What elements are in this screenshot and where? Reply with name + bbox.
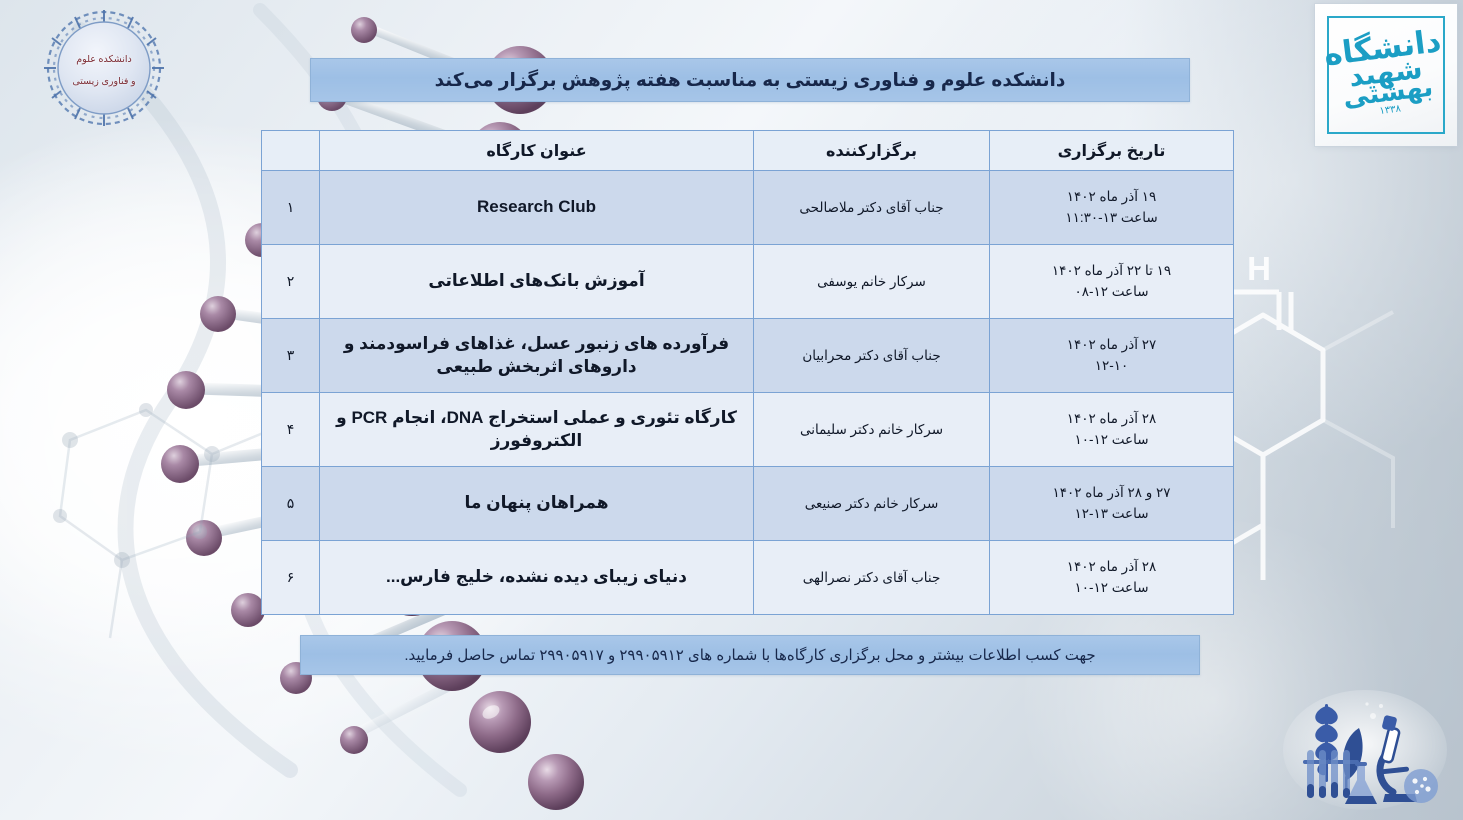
schedule-table-container: تاریخ برگزاری برگزارکننده عنوان کارگاه ۱…	[262, 130, 1234, 615]
column-header-host: برگزارکننده	[754, 131, 990, 171]
cell-host: جناب آقای دکتر محرابیان	[754, 319, 990, 393]
cell-row-number: ۱	[262, 171, 320, 245]
cell-host: سرکار خانم دکتر صنیعی	[754, 467, 990, 541]
table-body: ۱۹ آذر ماه ۱۴۰۲ساعت ۱۳-۱۱:۳۰جناب آقای دک…	[262, 171, 1234, 615]
poster-canvas: CH 3 H NH	[0, 0, 1463, 820]
contact-footer-banner: جهت کسب اطلاعات بیشتر و محل برگزاری کارگ…	[300, 635, 1200, 675]
date-line-2: ۱۲-۱۰	[998, 356, 1225, 376]
chem-label-h: H	[1247, 250, 1271, 287]
table-header-row: تاریخ برگزاری برگزارکننده عنوان کارگاه	[262, 131, 1234, 171]
table-row: ۱۹ آذر ماه ۱۴۰۲ساعت ۱۳-۱۱:۳۰جناب آقای دک…	[262, 171, 1234, 245]
cell-date: ۱۹ آذر ماه ۱۴۰۲ساعت ۱۳-۱۱:۳۰	[990, 171, 1234, 245]
cell-workshop-title: آموزش بانک‌های اطلاعاتی	[320, 245, 754, 319]
university-logo-frame: دانشگاه شهید بهشتی ۱۳۳۸	[1327, 16, 1445, 134]
column-header-number	[262, 131, 320, 171]
date-line-1: ۲۷ آذر ماه ۱۴۰۲	[998, 335, 1225, 355]
science-emblem-logo	[1281, 688, 1449, 812]
table-header: تاریخ برگزاری برگزارکننده عنوان کارگاه	[262, 131, 1234, 171]
column-header-title: عنوان کارگاه	[320, 131, 754, 171]
date-line-1: ۲۷ و ۲۸ آذر ماه ۱۴۰۲	[998, 483, 1225, 503]
date-line-2: ساعت ۱۳-۱۱:۳۰	[998, 208, 1225, 228]
university-logo-calligraphy: دانشگاه شهید بهشتی ۱۳۳۸	[1323, 27, 1450, 122]
cell-date: ۲۸ آذر ماه ۱۴۰۲ساعت ۱۲-۱۰	[990, 541, 1234, 615]
banner-title: دانشکده علوم و فناوری زیستی به مناسبت هف…	[435, 69, 1066, 91]
table-row: ۲۷ آذر ماه ۱۴۰۲۱۲-۱۰جناب آقای دکتر محراب…	[262, 319, 1234, 393]
cell-row-number: ۴	[262, 393, 320, 467]
faculty-seal-line1: دانشکده علوم	[76, 54, 131, 65]
cell-host: جناب آقای دکتر نصرالهی	[754, 541, 990, 615]
date-line-1: ۲۸ آذر ماه ۱۴۰۲	[998, 409, 1225, 429]
workshop-schedule-table: تاریخ برگزاری برگزارکننده عنوان کارگاه ۱…	[261, 130, 1234, 615]
table-row: ۲۸ آذر ماه ۱۴۰۲ساعت ۱۲-۱۰جناب آقای دکتر …	[262, 541, 1234, 615]
faculty-seal-line2: و فناوری زیستی	[72, 76, 135, 87]
date-line-1: ۲۸ آذر ماه ۱۴۰۲	[998, 557, 1225, 577]
cell-row-number: ۲	[262, 245, 320, 319]
date-line-2: ساعت ۱۲-۰۸	[998, 282, 1225, 302]
date-line-2: ساعت ۱۲-۱۰	[998, 430, 1225, 450]
table-row: ۲۸ آذر ماه ۱۴۰۲ساعت ۱۲-۱۰سرکار خانم دکتر…	[262, 393, 1234, 467]
cell-row-number: ۳	[262, 319, 320, 393]
cell-date: ۲۷ آذر ماه ۱۴۰۲۱۲-۱۰	[990, 319, 1234, 393]
date-line-1: ۱۹ آذر ماه ۱۴۰۲	[998, 187, 1225, 207]
cell-icon	[1404, 769, 1438, 803]
faculty-seal-logo: دانشکده علوم و فناوری زیستی	[18, 6, 190, 134]
cell-workshop-title: همراهان پنهان ما	[320, 467, 754, 541]
cell-workshop-title: کارگاه تئوری و عملی استخراج DNA، انجام P…	[320, 393, 754, 467]
contact-footer-text: جهت کسب اطلاعات بیشتر و محل برگزاری کارگ…	[404, 646, 1095, 664]
faculty-seal-text: دانشکده علوم و فناوری زیستی	[18, 6, 190, 134]
date-line-2: ساعت ۱۲-۱۰	[998, 578, 1225, 598]
laboratory-plant-microscope-icon	[1281, 688, 1449, 812]
cell-workshop-title: Research Club	[320, 171, 754, 245]
cell-date: ۲۷ و ۲۸ آذر ماه ۱۴۰۲ساعت ۱۳-۱۲	[990, 467, 1234, 541]
date-line-2: ساعت ۱۳-۱۲	[998, 504, 1225, 524]
cell-host: سرکار خانم دکتر سلیمانی	[754, 393, 990, 467]
main-banner: دانشکده علوم و فناوری زیستی به مناسبت هف…	[310, 58, 1190, 102]
cell-workshop-title: فرآورده های زنبور عسل، غذاهای فراسودمند …	[320, 319, 754, 393]
cell-workshop-title: دنیای زیبای دیده نشده، خلیج فارس...	[320, 541, 754, 615]
table-row: ۲۷ و ۲۸ آذر ماه ۱۴۰۲ساعت ۱۳-۱۲سرکار خانم…	[262, 467, 1234, 541]
university-logo: دانشگاه شهید بهشتی ۱۳۳۸	[1315, 4, 1457, 146]
cell-host: جناب آقای دکتر ملاصالحی	[754, 171, 990, 245]
cell-row-number: ۵	[262, 467, 320, 541]
column-header-date: تاریخ برگزاری	[990, 131, 1234, 171]
cell-row-number: ۶	[262, 541, 320, 615]
date-line-1: ۱۹ تا ۲۲ آذر ماه ۱۴۰۲	[998, 261, 1225, 281]
cell-date: ۱۹ تا ۲۲ آذر ماه ۱۴۰۲ساعت ۱۲-۰۸	[990, 245, 1234, 319]
cell-date: ۲۸ آذر ماه ۱۴۰۲ساعت ۱۲-۱۰	[990, 393, 1234, 467]
table-row: ۱۹ تا ۲۲ آذر ماه ۱۴۰۲ساعت ۱۲-۰۸سرکار خان…	[262, 245, 1234, 319]
cell-host: سرکار خانم یوسفی	[754, 245, 990, 319]
